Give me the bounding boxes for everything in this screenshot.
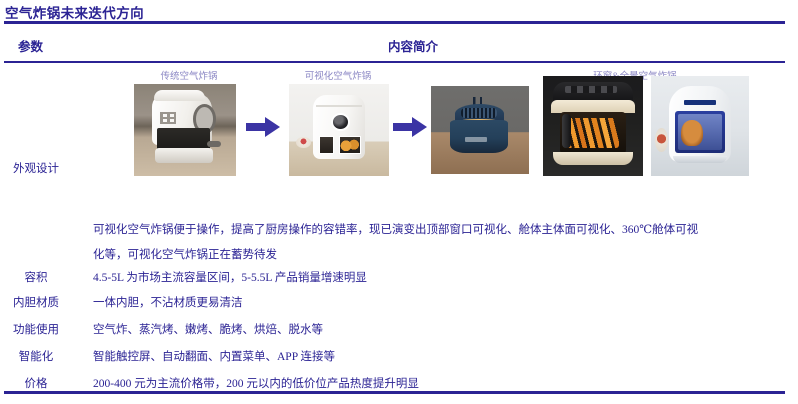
stage-arrow-2-icon bbox=[393, 116, 427, 138]
row-content-functions: 空气炸、蒸汽烤、嫩烤、脆烤、烘焙、脱水等 bbox=[93, 321, 323, 337]
row-content-appearance-line1: 可视化空气炸锅便于操作，提高了厨房操作的容错率，现已演变出顶部窗口可视化、舱体主… bbox=[93, 221, 698, 237]
photo-caption-traditional: 传统空气炸锅 bbox=[129, 68, 249, 82]
panoramic-air-fryer-photo bbox=[651, 76, 749, 176]
row-label-price: 价格 bbox=[0, 375, 80, 391]
row-label-capacity: 容积 bbox=[0, 269, 80, 285]
table-header-rule bbox=[4, 61, 785, 63]
cream-wide-window-air-fryer-photo bbox=[543, 76, 643, 176]
blue-pot-air-fryer-photo bbox=[431, 86, 529, 174]
column-header-content: 内容简介 bbox=[0, 36, 798, 55]
row-label-appearance: 外观设计 bbox=[0, 160, 80, 176]
row-label-liner-material: 内胆材质 bbox=[0, 294, 80, 310]
row-content-smart: 智能触控屏、自动翻面、内置菜单、APP 连接等 bbox=[93, 348, 335, 364]
stage-arrow-1-icon bbox=[246, 116, 280, 138]
row-content-liner-material: 一体内胆，不沾材质更易清洁 bbox=[93, 294, 243, 310]
row-content-price: 200-400 元为主流价格带，200 元以内的低价位产品热度提升明显 bbox=[93, 375, 419, 391]
table-bottom-rule bbox=[4, 391, 785, 394]
photo-caption-visual: 可视化空气炸锅 bbox=[273, 68, 403, 82]
page-title: 空气炸锅未来迭代方向 bbox=[5, 2, 144, 22]
row-content-appearance-line2: 化等，可视化空气炸锅正在蓄势待发 bbox=[93, 246, 277, 262]
column-header-content-label: 内容简介 bbox=[388, 40, 438, 54]
traditional-air-fryer-photo bbox=[134, 84, 236, 176]
table-top-rule bbox=[4, 21, 785, 24]
visual-window-air-fryer-photo bbox=[289, 84, 389, 176]
row-label-smart: 智能化 bbox=[0, 348, 80, 364]
appearance-picture-strip: 传统空气炸锅 可视化空气炸锅 环窗&全景空气炸锅 bbox=[93, 68, 783, 208]
row-content-capacity: 4.5-5L 为市场主流容量区间，5-5.5L 产品销量增速明显 bbox=[93, 269, 367, 285]
row-label-functions: 功能使用 bbox=[0, 321, 80, 337]
